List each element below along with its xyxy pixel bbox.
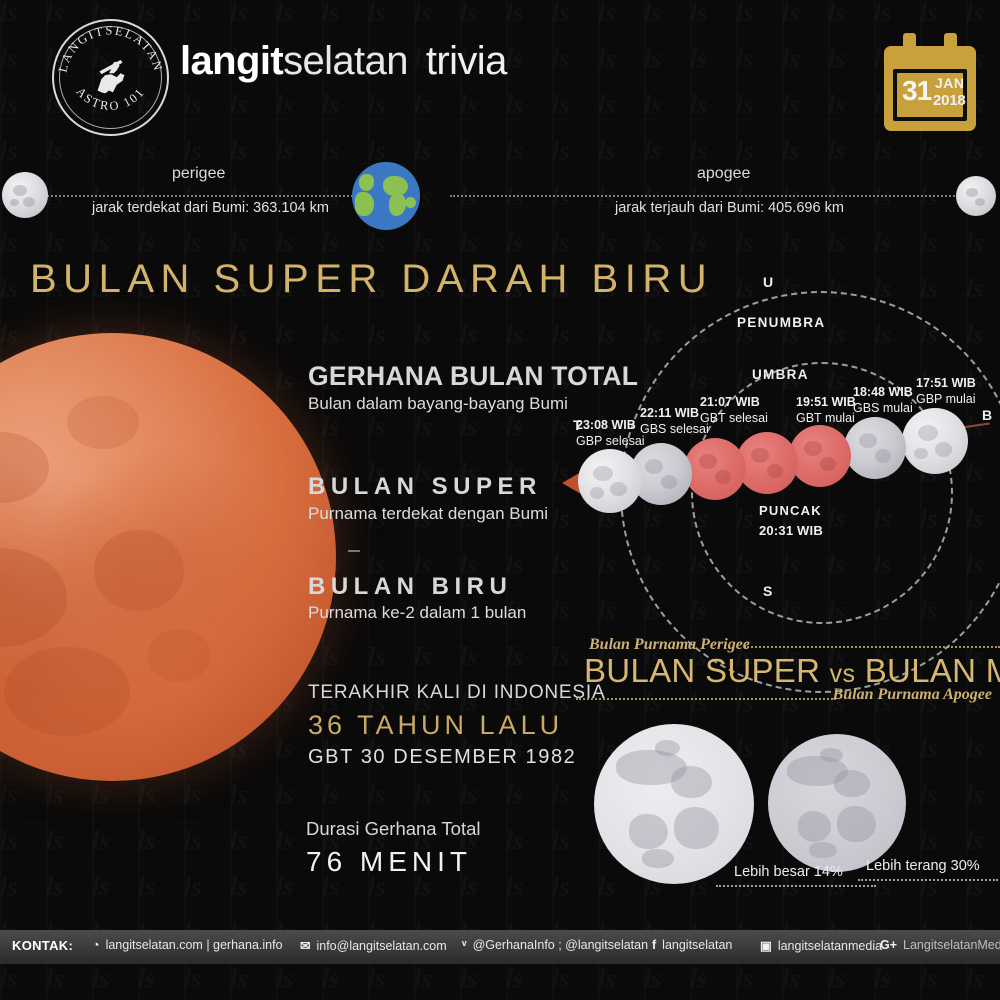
axis-label-south: S (763, 583, 772, 599)
event-time-2308: 23:08 WIB (576, 417, 645, 433)
size-comparison-label: Lebih besar 14% (734, 864, 843, 880)
duration-label: Durasi Gerhana Total (306, 818, 480, 840)
event-label-1951: 19:51 WIB GBT mulai (796, 394, 856, 426)
contact-instagram-text: langitselatanmedia (778, 939, 882, 953)
super-moon-icon (594, 724, 754, 884)
infographic-page: lslslslslslslslslslslslslslslslslslslsls… (0, 0, 1000, 1000)
contact-twitter[interactable]: ᵛ@GerhanaInfo ; @langitselatan (462, 938, 648, 952)
brand-selatan: selatan (283, 39, 408, 83)
size-label-underline (716, 885, 876, 887)
last-occurrence-line2: 36 TAHUN LALU (308, 710, 605, 741)
penumbra-label: PENUMBRA (737, 315, 825, 330)
contact-website[interactable]: ◔langitselatan.com | gerhana.info (92, 938, 283, 952)
googleplus-icon: G+ (880, 938, 897, 952)
eclipse-moon-1951 (789, 425, 851, 487)
header: LANGITSELATAN ASTRO 101 langitselatantri… (0, 0, 1000, 148)
rss-icon: ◔ (92, 938, 100, 952)
compare-title-left: BULAN SUPER (584, 652, 820, 689)
brand-trivia: trivia (426, 39, 507, 83)
eclipse-moon-2308 (578, 449, 642, 513)
contact-facebook[interactable]: flangitselatan (652, 938, 732, 952)
orbit-line-left (44, 195, 364, 197)
contact-googleplus-text: LangitselatanMedia (903, 938, 1000, 952)
event-time-2211: 22:11 WIB (640, 405, 709, 421)
apogee-moon-icon (956, 176, 996, 216)
langitselatan-logo: LANGITSELATAN ASTRO 101 (52, 19, 169, 136)
contact-instagram[interactable]: ▣langitselatanmedia (760, 938, 882, 953)
contact-label: KONTAK: (12, 938, 73, 953)
peak-time: 20:31 WIB (759, 523, 823, 538)
brightness-label-underline (858, 879, 998, 881)
event-time-1951: 19:51 WIB (796, 394, 856, 410)
brand-langit: langit (180, 39, 283, 83)
contact-email[interactable]: ✉info@langitselatan.com (300, 938, 447, 953)
eclipse-moon-2107 (684, 438, 746, 500)
perigee-label: perigee (172, 165, 225, 183)
event-time-1848: 18:48 WIB (853, 384, 913, 400)
instagram-icon: ▣ (760, 938, 772, 953)
last-occurrence-line3: GBT 30 DESEMBER 1982 (308, 746, 605, 769)
horse-rider-icon (88, 54, 134, 100)
brightness-comparison-label: Lebih terang 30% (866, 858, 980, 874)
calendar-window: 31 JAN 2018 (893, 69, 967, 121)
brand-title: langitselatantrivia (180, 41, 507, 81)
apogee-label: apogee (697, 165, 750, 183)
compare-title-vs: vs (830, 660, 856, 688)
earth-globe-icon (352, 162, 420, 230)
contact-facebook-text: langitselatan (662, 938, 732, 952)
calendar-day: 31 (902, 77, 931, 105)
mini-moon-icon (768, 734, 906, 872)
calendar-body: 31 JAN 2018 (884, 46, 976, 131)
compare-dotted-line-bottom (576, 698, 836, 700)
last-occurrence-line1: TERAKHIR KALI DI INDONESIA (308, 682, 605, 704)
perigee-moon-icon (2, 172, 48, 218)
facebook-icon: f (652, 938, 656, 952)
eclipse-moon-1848 (844, 417, 906, 479)
event-name-2211: GBS selesai (640, 421, 709, 437)
compare-dotted-line-top (744, 646, 1000, 648)
event-label-2211: 22:11 WIB GBS selesai (640, 405, 709, 437)
axis-label-east: B (982, 407, 992, 423)
contact-email-text: info@langitselatan.com (316, 939, 446, 953)
event-label-1751: 17:51 WIB GBP mulai (916, 375, 976, 407)
perigee-distance: jarak terdekat dari Bumi: 363.104 km (92, 200, 329, 216)
event-name-1751: GBP mulai (916, 391, 976, 407)
axis-label-north: U (763, 274, 773, 290)
apogee-distance: jarak terjauh dari Bumi: 405.696 km (615, 200, 844, 216)
envelope-icon: ✉ (300, 938, 310, 953)
event-name-1951: GBT mulai (796, 410, 856, 426)
duration-value: 76 MENIT (306, 846, 480, 878)
contact-googleplus[interactable]: G+LangitselatanMedia (880, 938, 1000, 952)
twitter-icon: ᵛ (462, 938, 467, 952)
last-occurrence-block: TERAKHIR KALI DI INDONESIA 36 TAHUN LALU… (308, 682, 605, 769)
peak-title: PUNCAK (759, 503, 822, 518)
eclipse-path-diagram: U S T B PENUMBRA UMBRA (556, 275, 1000, 615)
compare-title-right: BULAN MINI (865, 652, 1000, 689)
calendar-icon: 31 JAN 2018 (884, 33, 976, 131)
event-time-1751: 17:51 WIB (916, 375, 976, 391)
contact-website-text: langitselatan.com | gerhana.info (106, 938, 283, 952)
event-label-2308: 23:08 WIB GBP selesai (576, 417, 645, 449)
peak-label: PUNCAK 20:31 WIB (759, 503, 823, 538)
section-divider (348, 550, 360, 552)
eclipse-moon-1751 (902, 408, 968, 474)
event-label-1848: 18:48 WIB GBS mulai (853, 384, 913, 416)
duration-block: Durasi Gerhana Total 76 MENIT (306, 818, 480, 878)
super-vs-mini-section: Bulan Purnama Perigee BULAN SUPER vs BUL… (576, 636, 1000, 896)
contact-twitter-text: @GerhanaInfo ; @langitselatan (473, 938, 648, 952)
orbit-distance-strip (0, 152, 1000, 242)
compare-title: BULAN SUPER vs BULAN MINI (584, 652, 1000, 690)
contact-footer: KONTAK: ◔langitselatan.com | gerhana.inf… (0, 930, 1000, 964)
calendar-year: 2018 (933, 93, 966, 108)
event-name-2308: GBP selesai (576, 433, 645, 449)
event-time-2107: 21:07 WIB (700, 394, 768, 410)
calendar-face: 31 JAN 2018 (897, 73, 963, 117)
event-label-2107: 21:07 WIB GBT selesai (700, 394, 768, 426)
orbit-line-right (450, 195, 970, 197)
compare-bottom-caption: Bulan Purnama Apogee (833, 686, 992, 704)
calendar-month: JAN (935, 76, 965, 90)
event-name-1848: GBS mulai (853, 400, 913, 416)
event-name-2107: GBT selesai (700, 410, 768, 426)
umbra-label: UMBRA (752, 367, 809, 382)
